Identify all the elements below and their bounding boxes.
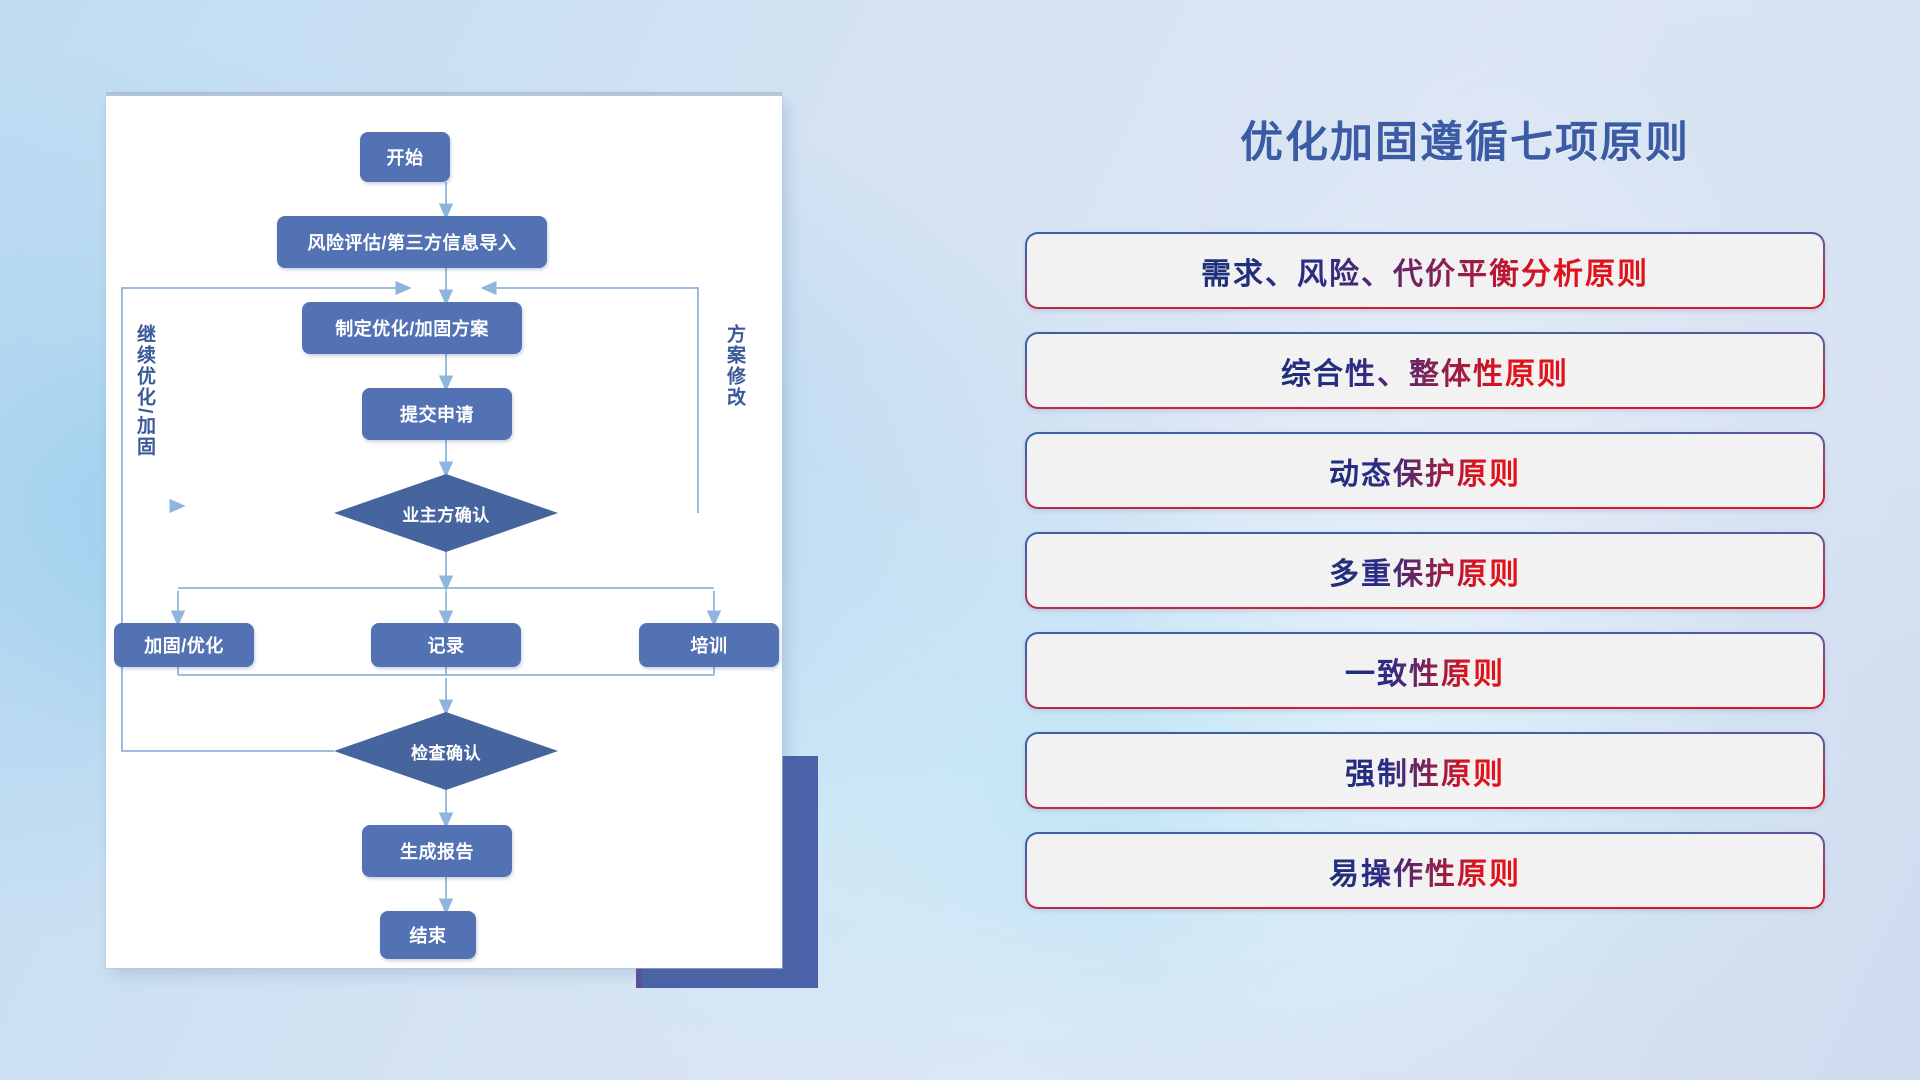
flow-node-label: 加固/优化 (144, 632, 224, 658)
principle-label: 需求、风险、代价平衡分析原则 (1201, 249, 1649, 293)
edge-label-continue-optimize: 继续优化/加固 (134, 324, 154, 504)
edge-label-plan-revision: 方案修改 (724, 324, 744, 464)
flowchart-panel: 开始 风险评估/第三方信息导入 制定优化/加固方案 提交申请 业主方确认 加固/… (0, 0, 830, 1080)
principle-card[interactable]: 一致性原则 (1025, 632, 1825, 709)
principle-label: 一致性原则 (1345, 649, 1505, 693)
principle-card-inner: 多重保护原则 (1027, 534, 1823, 607)
principles-list: 需求、风险、代价平衡分析原则 综合性、整体性原则 动态保护原则 多重保护原则 一… (1025, 232, 1825, 932)
principle-card[interactable]: 综合性、整体性原则 (1025, 332, 1825, 409)
principles-panel: 优化加固遵循七项原则 需求、风险、代价平衡分析原则 综合性、整体性原则 动态保护… (1010, 0, 1920, 1080)
flow-node-label: 生成报告 (400, 838, 474, 864)
principle-card-inner: 综合性、整体性原则 (1027, 334, 1823, 407)
flowchart-diagram: 开始 风险评估/第三方信息导入 制定优化/加固方案 提交申请 业主方确认 加固/… (106, 96, 782, 968)
flow-node-owner-confirm[interactable]: 业主方确认 (334, 474, 558, 552)
flow-node-training[interactable]: 培训 (639, 623, 779, 667)
principle-card-inner: 易操作性原则 (1027, 834, 1823, 907)
flow-node-submit-application[interactable]: 提交申请 (362, 388, 512, 440)
flow-node-generate-report[interactable]: 生成报告 (362, 825, 512, 877)
flow-node-end[interactable]: 结束 (380, 911, 476, 959)
flow-node-label: 培训 (691, 632, 728, 658)
principle-card[interactable]: 需求、风险、代价平衡分析原则 (1025, 232, 1825, 309)
principle-label: 易操作性原则 (1329, 849, 1521, 893)
principle-card-inner: 强制性原则 (1027, 734, 1823, 807)
flow-node-label: 风险评估/第三方信息导入 (308, 229, 517, 255)
panel-title: 优化加固遵循七项原则 (1010, 108, 1920, 170)
principle-card[interactable]: 动态保护原则 (1025, 432, 1825, 509)
flow-node-label: 开始 (387, 144, 424, 170)
flow-node-start[interactable]: 开始 (360, 132, 450, 182)
flow-node-label: 提交申请 (400, 401, 474, 427)
principle-card[interactable]: 易操作性原则 (1025, 832, 1825, 909)
flow-node-label: 业主方确认 (334, 474, 558, 552)
flow-node-record[interactable]: 记录 (371, 623, 521, 667)
principle-card-inner: 一致性原则 (1027, 634, 1823, 707)
principle-card[interactable]: 多重保护原则 (1025, 532, 1825, 609)
principle-label: 动态保护原则 (1329, 449, 1521, 493)
flow-node-check-confirm[interactable]: 检查确认 (334, 712, 558, 790)
flow-node-label: 制定优化/加固方案 (335, 315, 489, 341)
flow-node-risk-assessment[interactable]: 风险评估/第三方信息导入 (277, 216, 547, 268)
principle-label: 多重保护原则 (1329, 549, 1521, 593)
principle-card-inner: 动态保护原则 (1027, 434, 1823, 507)
flow-node-plan[interactable]: 制定优化/加固方案 (302, 302, 522, 354)
flow-node-label: 记录 (428, 632, 465, 658)
flow-node-label: 结束 (410, 922, 447, 948)
principle-label: 强制性原则 (1345, 749, 1505, 793)
flow-node-reinforce[interactable]: 加固/优化 (114, 623, 254, 667)
principle-card[interactable]: 强制性原则 (1025, 732, 1825, 809)
principle-label: 综合性、整体性原则 (1281, 349, 1569, 393)
principle-card-inner: 需求、风险、代价平衡分析原则 (1027, 234, 1823, 307)
flow-node-label: 检查确认 (334, 712, 558, 790)
